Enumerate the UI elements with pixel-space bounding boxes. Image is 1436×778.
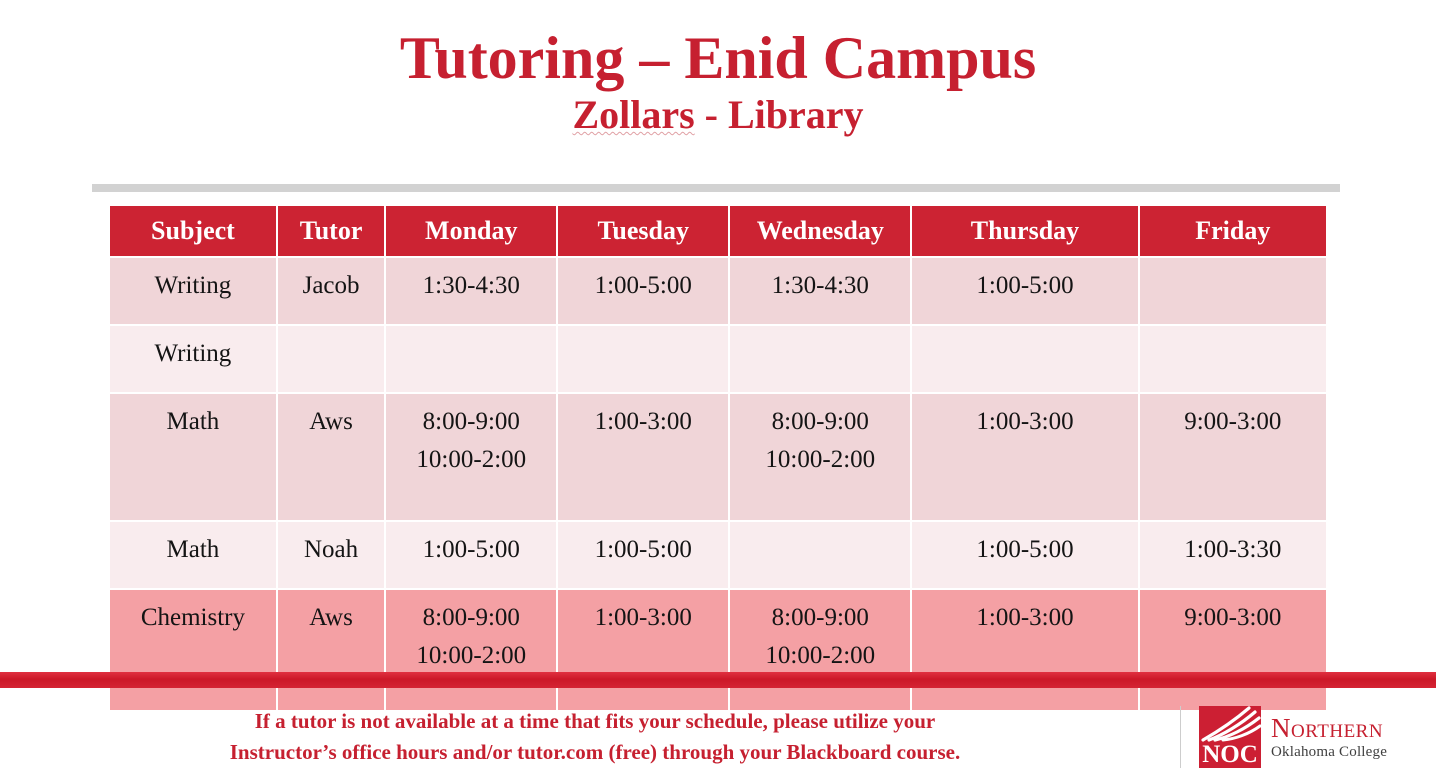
cell-tuesday: 1:00-5:00 [558,522,728,588]
cell-subject: Writing [110,258,276,324]
noc-logo: NOC Northern Oklahoma College [1181,706,1436,768]
time-slot: 1:00-5:00 [916,268,1133,304]
cell-tutor: Noah [278,522,384,588]
noc-logo-name-secondary: Oklahoma College [1271,745,1387,760]
cell-thursday: 1:00-5:00 [912,258,1137,324]
cell-subject: Writing [110,326,276,392]
footer-note: If a tutor is not available at a time th… [0,706,1180,768]
time-slot: 9:00-3:00 [1144,600,1322,636]
cell-tuesday: 1:00-3:00 [558,590,728,710]
time-slot: 1:30-4:30 [390,268,552,304]
cell-wednesday: 8:00-9:0010:00-2:00 [730,394,910,520]
cell-monday: 8:00-9:0010:00-2:00 [386,394,556,520]
time-slot: 8:00-9:00 [390,404,552,440]
time-slot: 10:00-2:00 [390,638,552,674]
column-header-wednesday: Wednesday [730,206,910,256]
cell-thursday: 1:00-5:00 [912,522,1137,588]
time-slot: 8:00-9:00 [734,404,906,440]
noc-logo-wordmark: Northern Oklahoma College [1271,715,1387,760]
column-header-monday: Monday [386,206,556,256]
cell-friday [1140,258,1326,324]
cell-friday: 9:00-3:00 [1140,590,1326,710]
column-header-thursday: Thursday [912,206,1137,256]
table-body: WritingJacob1:30-4:301:00-5:001:30-4:301… [110,258,1326,710]
cell-tuesday [558,326,728,392]
column-header-subject: Subject [110,206,276,256]
cell-tutor: Aws [278,590,384,710]
column-header-friday: Friday [1140,206,1326,256]
time-slot: 1:00-3:00 [916,404,1133,440]
cell-subject: Math [110,522,276,588]
page-title-block: Tutoring – Enid Campus Zollars - Library [0,0,1436,138]
tutoring-schedule-table: Subject Tutor Monday Tuesday Wednesday T… [108,204,1328,712]
time-slot: 10:00-2:00 [734,442,906,478]
schedule-table-container: Subject Tutor Monday Tuesday Wednesday T… [108,204,1328,712]
cell-tutor: Aws [278,394,384,520]
time-slot: 10:00-2:00 [390,442,552,478]
cell-subject: Math [110,394,276,520]
time-slot: 1:00-5:00 [390,532,552,568]
time-slot: 8:00-9:00 [390,600,552,636]
cell-monday: 1:30-4:30 [386,258,556,324]
footer-note-line-1: If a tutor is not available at a time th… [40,706,1150,737]
time-slot: 1:30-4:30 [734,268,906,304]
page-footer: If a tutor is not available at a time th… [0,696,1436,778]
noc-logo-mark: NOC [1199,706,1261,768]
noc-logo-name-primary: Northern [1271,715,1387,742]
time-slot: 1:00-5:00 [562,532,724,568]
time-slot: 10:00-2:00 [734,638,906,674]
noc-logo-mark-text: NOC [1202,741,1258,768]
page-title: Tutoring – Enid Campus [0,26,1436,90]
cell-tuesday: 1:00-3:00 [558,394,728,520]
table-row: Writing [110,326,1326,392]
table-row: ChemistryAws8:00-9:0010:00-2:001:00-3:00… [110,590,1326,710]
page-subtitle-location: Zollars [572,92,694,137]
cell-friday: 9:00-3:00 [1140,394,1326,520]
time-slot: 1:00-5:00 [562,268,724,304]
column-header-tuesday: Tuesday [558,206,728,256]
cell-monday: 1:00-5:00 [386,522,556,588]
table-row: WritingJacob1:30-4:301:00-5:001:30-4:301… [110,258,1326,324]
table-row: MathAws8:00-9:0010:00-2:001:00-3:008:00-… [110,394,1326,520]
cell-tuesday: 1:00-5:00 [558,258,728,324]
cell-monday [386,326,556,392]
table-header-row: Subject Tutor Monday Tuesday Wednesday T… [110,206,1326,256]
cell-wednesday [730,326,910,392]
cell-wednesday: 1:30-4:30 [730,258,910,324]
time-slot: 8:00-9:00 [734,600,906,636]
noc-swoosh-icon: NOC [1199,706,1261,768]
time-slot: 1:00-5:00 [916,532,1133,568]
cell-monday: 8:00-9:0010:00-2:00 [386,590,556,710]
cell-wednesday: 8:00-9:0010:00-2:00 [730,590,910,710]
cell-tutor: Jacob [278,258,384,324]
cell-friday: 1:00-3:30 [1140,522,1326,588]
time-slot: 1:00-3:00 [562,404,724,440]
page-subtitle: Zollars - Library [0,92,1436,138]
time-slot: 9:00-3:00 [1144,404,1322,440]
cell-friday [1140,326,1326,392]
cell-wednesday [730,522,910,588]
page-subtitle-rest: - Library [695,92,864,137]
time-slot: 1:00-3:00 [562,600,724,636]
table-row: MathNoah1:00-5:001:00-5:001:00-5:001:00-… [110,522,1326,588]
cell-subject: Chemistry [110,590,276,710]
cell-tutor [278,326,384,392]
divider-bar-red [0,672,1436,688]
cell-thursday: 1:00-3:00 [912,590,1137,710]
footer-note-line-2: Instructor’s office hours and/or tutor.c… [40,737,1150,768]
cell-thursday [912,326,1137,392]
time-slot: 1:00-3:30 [1144,532,1322,568]
cell-thursday: 1:00-3:00 [912,394,1137,520]
divider-rule-gray [92,184,1340,192]
column-header-tutor: Tutor [278,206,384,256]
time-slot: 1:00-3:00 [916,600,1133,636]
